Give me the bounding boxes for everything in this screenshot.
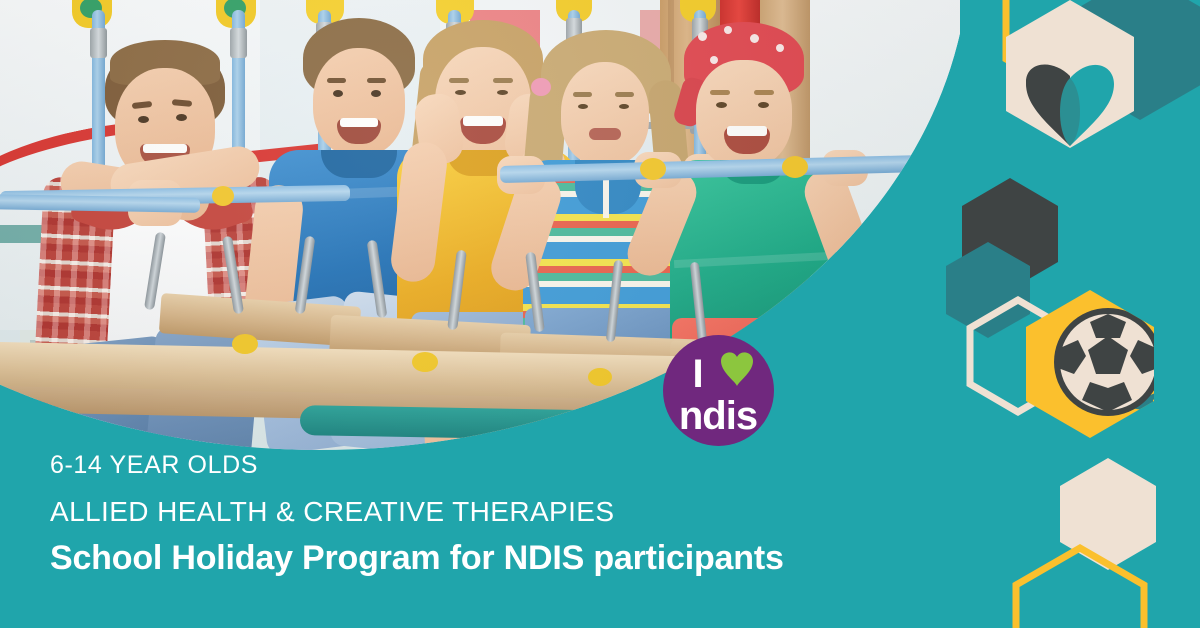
photo-region <box>0 0 960 460</box>
ndis-logo-badge: I ndis <box>663 335 774 446</box>
heart-icon <box>1026 65 1114 146</box>
page-title: School Holiday Program for NDIS particip… <box>50 536 910 580</box>
hexagon-pattern-panel <box>940 0 1200 628</box>
ndis-logo-svg: I ndis <box>663 335 774 446</box>
ndis-i-letter: I <box>692 352 703 396</box>
text-block: 6-14 YEAR OLDS ALLIED HEALTH & CREATIVE … <box>50 448 910 580</box>
heart-icon <box>721 352 753 386</box>
subtitle-label: ALLIED HEALTH & CREATIVE THERAPIES <box>50 492 910 532</box>
ndis-school-holiday-banner: I ndis <box>0 0 1200 628</box>
playground-children-photo <box>0 0 960 450</box>
soccer-ball-icon <box>1054 308 1162 416</box>
hexagon-pattern-svg <box>940 0 1200 628</box>
age-range-label: 6-14 YEAR OLDS <box>50 448 910 482</box>
photo-circular-mask <box>0 0 960 450</box>
ndis-wordmark: ndis <box>679 394 757 438</box>
